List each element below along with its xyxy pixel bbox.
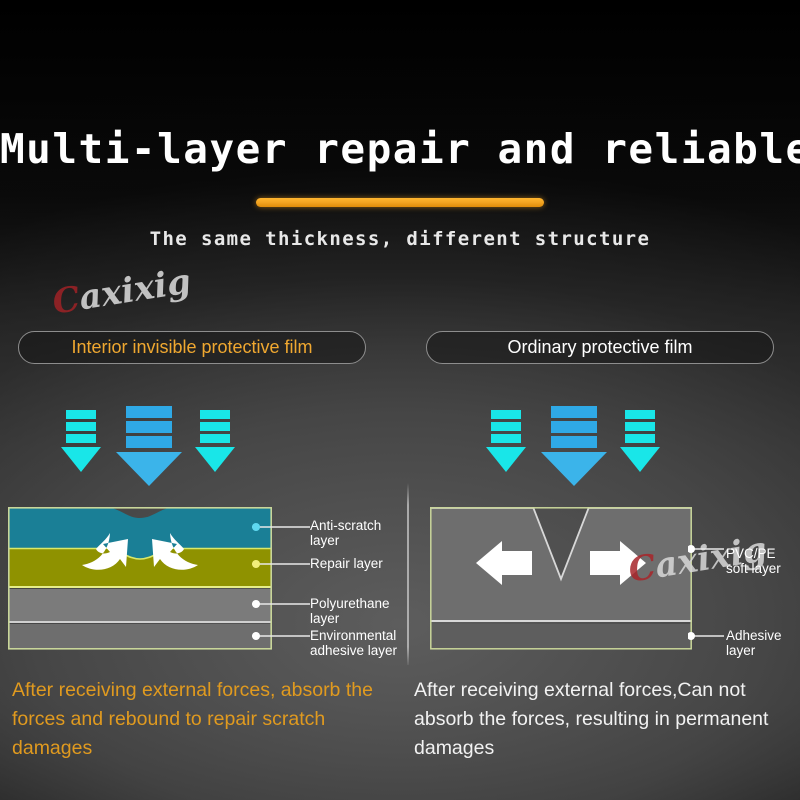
panel-label-left: Interior invisible protective film [18,331,366,364]
down-arrow-icon [194,410,238,482]
connector-dot [252,632,260,640]
down-arrow-icon [539,406,611,490]
panel-label-left-text: Interior invisible protective film [71,337,312,358]
layer-label-anti-scratch: Anti-scratch layer [310,518,381,548]
layer-label-repair: Repair layer [310,556,383,571]
connector-dot [252,560,260,568]
layer-environmental-adhesive [8,624,272,649]
down-arrow-icon [619,410,663,482]
down-arrow-icon [485,410,529,482]
layer-label-pvc-pe-soft: PVC/PE soft layer [726,546,781,576]
watermark-brand: Caxixig [50,261,194,322]
page-title: Multi-layer repair and reliable [0,125,800,173]
force-arrow-group-left [60,406,240,486]
panel-label-right: Ordinary protective film [426,331,774,364]
layer-stack-right [430,507,692,651]
layer-pvc-pe-soft [430,507,692,621]
caption-right: After receiving external forces,Can not … [414,676,792,763]
caption-left: After receiving external forces, absorb … [12,676,404,763]
layer-label-adhesive: Adhesive layer [726,628,782,658]
force-arrow-group-right [485,406,665,486]
connector-dot [252,523,260,531]
connector-dot [688,632,695,640]
panel-divider [407,483,409,665]
layer-stack-left [8,507,272,651]
watermark-rest: axixig [76,261,193,318]
connector-dot [688,545,695,553]
panel-label-right-text: Ordinary protective film [507,337,692,358]
watermark-initial: C [50,279,83,323]
layer-adhesive [430,624,692,649]
title-underline-accent [256,198,544,207]
connector-dot [252,600,260,608]
layer-label-polyurethane: Polyurethane layer [310,596,390,626]
infographic-canvas: Multi-layer repair and reliable The same… [0,0,800,800]
layer-polyurethane [8,589,272,621]
layer-label-environmental-adhesive: Environmental adhesive layer [310,628,397,658]
down-arrow-icon [60,410,104,482]
down-arrow-icon [114,406,186,490]
page-subtitle: The same thickness, different structure [0,228,800,250]
